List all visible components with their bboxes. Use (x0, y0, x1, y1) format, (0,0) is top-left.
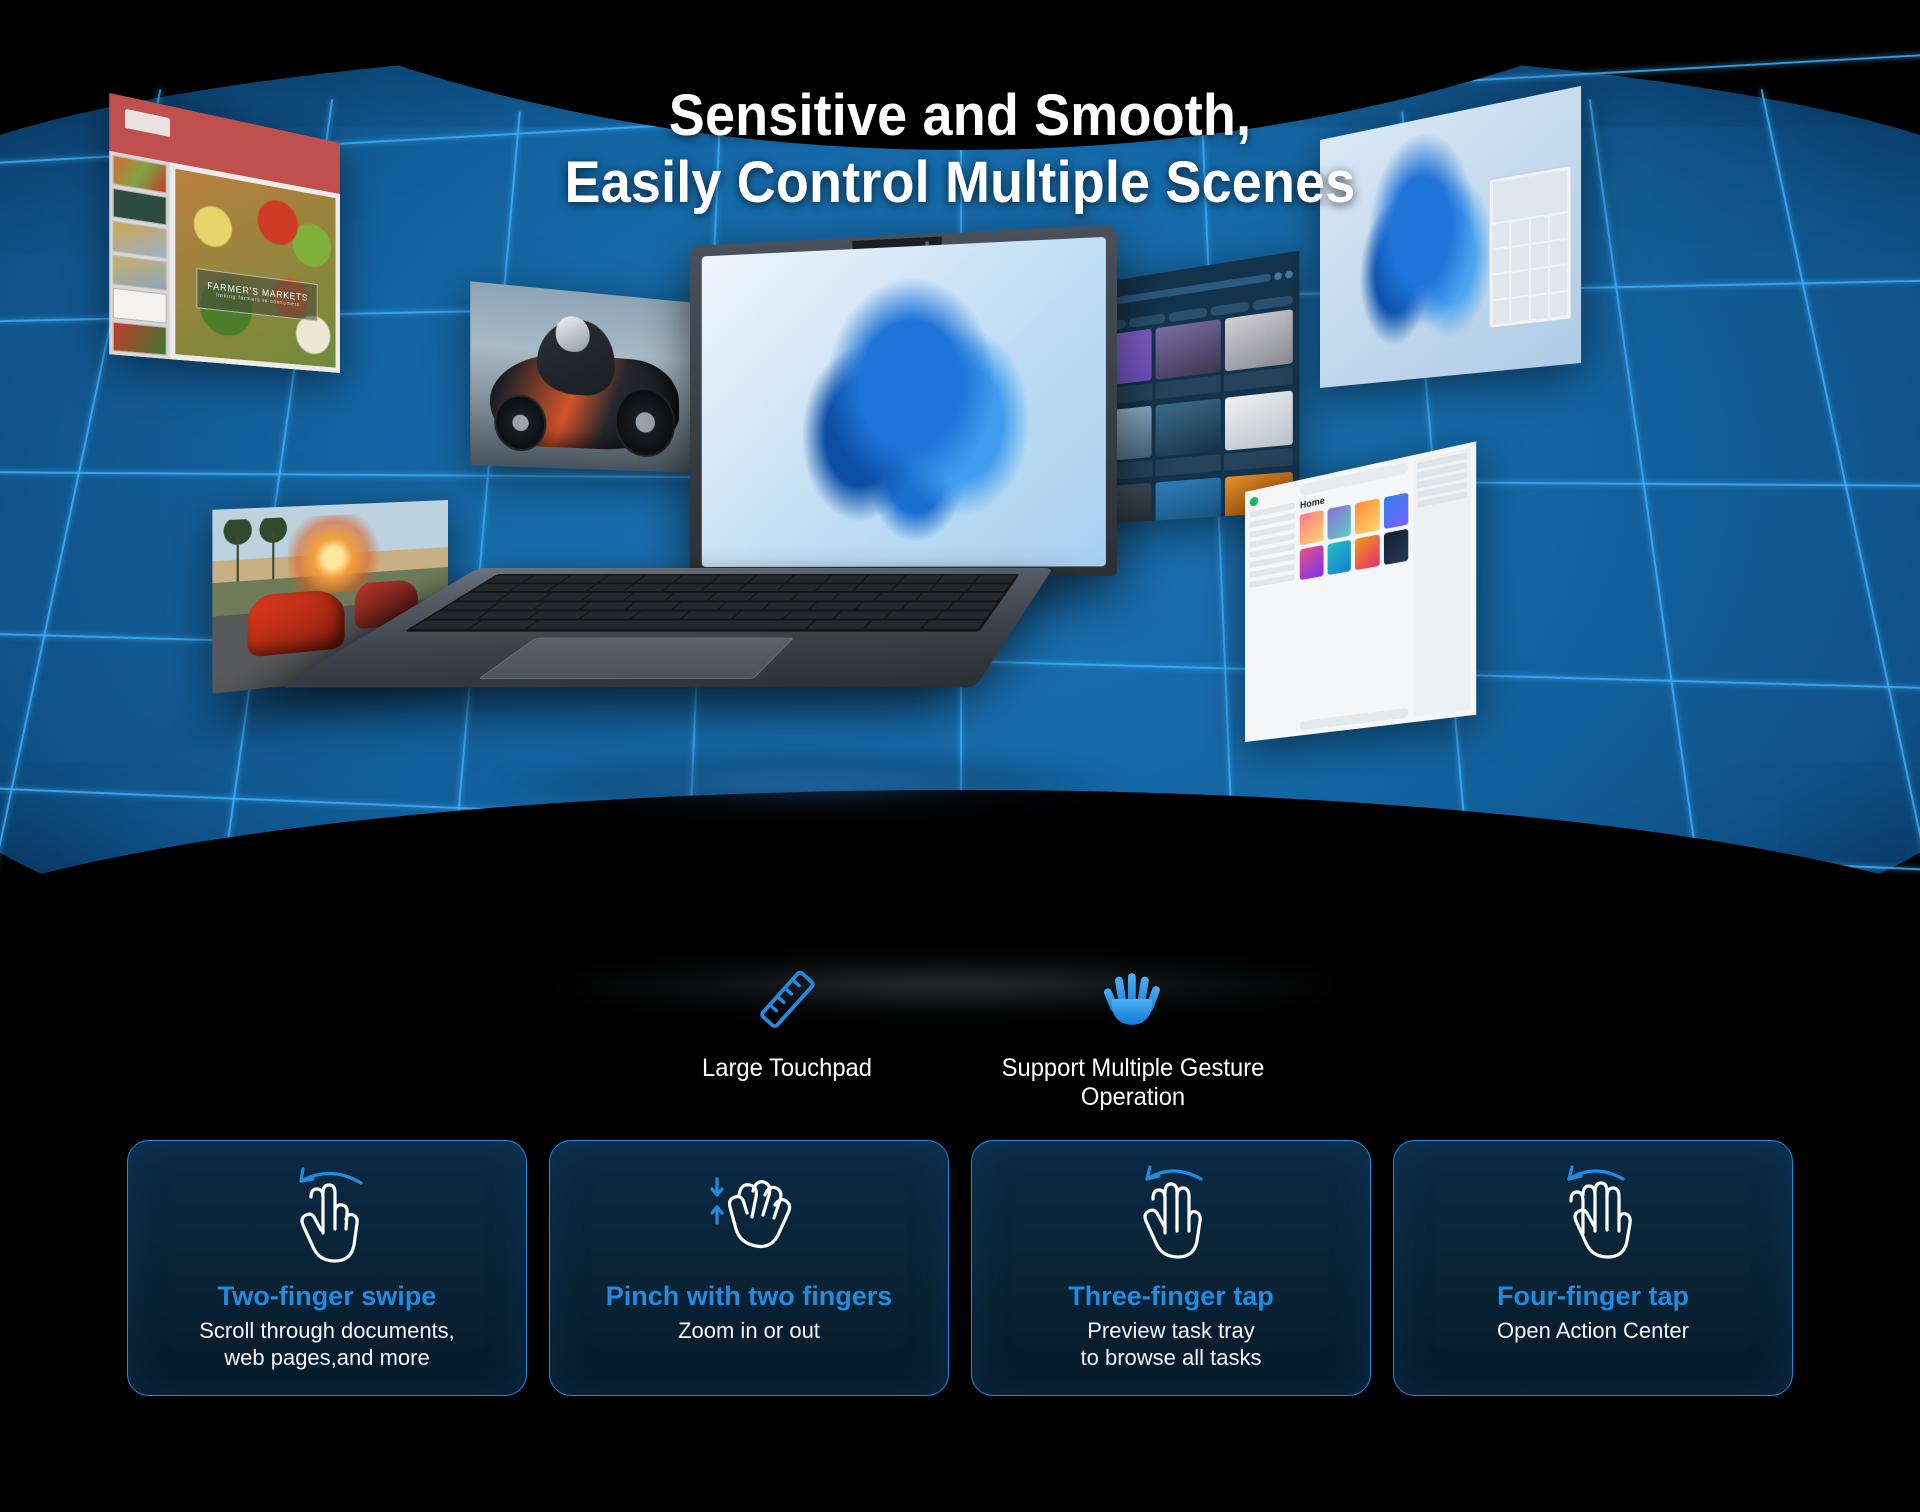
gesture-card-title: Three-finger tap (1068, 1281, 1274, 1312)
gesture-card-desc-line1: Open Action Center (1497, 1318, 1689, 1345)
dashboard-card (1300, 545, 1323, 580)
gesture-card-title: Four-finger tap (1497, 1281, 1689, 1312)
feature-large-touchpad: Large Touchpad (637, 960, 937, 1112)
music-home-dashboard: Home (1245, 441, 1476, 742)
poster-canvas: FARMER'S MARKETS linking farmers to cons… (0, 0, 1920, 1512)
laptop-device (478, 246, 1118, 766)
store-tab (1252, 295, 1292, 310)
page-title-line1: Sensitive and Smooth, (67, 82, 1853, 149)
gesture-card-two-finger-swipe[interactable]: Two-finger swipe Scroll through document… (127, 1140, 527, 1396)
ruler-icon (637, 960, 937, 1038)
store-tab (1210, 301, 1249, 316)
keyboard-row (442, 602, 998, 610)
store-card (1225, 390, 1293, 450)
slide-caption: FARMER'S MARKETS linking farmers to cons… (196, 268, 318, 322)
gesture-card-pinch-two-fingers[interactable]: Pinch with two fingers Zoom in or out (549, 1140, 949, 1396)
laptop-lid (690, 225, 1117, 576)
feature-gesture-support: Support Multiple Gesture Operation (983, 960, 1283, 1112)
keyboard-row (457, 593, 1004, 601)
store-card (1156, 319, 1221, 379)
dashboard-card (1355, 498, 1379, 534)
page-title-line2: Easily Control Multiple Scenes (67, 149, 1853, 216)
store-card (1156, 398, 1221, 456)
gesture-card-three-finger-tap[interactable]: Three-finger tap Preview task tray to br… (971, 1140, 1371, 1396)
laptop-keyboard (404, 574, 1020, 632)
feature-label: Support Multiple Gesture Operation (991, 1054, 1276, 1112)
store-tab (1169, 307, 1207, 322)
feature-row: Large Touchpad (0, 960, 1920, 1112)
gesture-card-title: Two-finger swipe (218, 1281, 437, 1312)
feature-label: Large Touchpad (645, 1054, 930, 1083)
keyboard-row (471, 584, 1010, 592)
dashboard-main: Home (1300, 461, 1409, 730)
dashboard-right-rail (1414, 448, 1471, 717)
gesture-card-desc: Preview task tray to browse all tasks (1081, 1318, 1262, 1372)
slide-thumbnail (113, 255, 167, 291)
palm-tree (223, 519, 253, 583)
three-finger-tap-icon (1109, 1157, 1233, 1277)
store-profile-icon (1285, 270, 1293, 279)
dashboard-card (1327, 540, 1351, 576)
gesture-card-desc-line2: to browse all tasks (1081, 1345, 1262, 1372)
logo-dot-icon (1250, 496, 1259, 507)
dashboard-card (1355, 534, 1379, 570)
gesture-card-desc: Zoom in or out (678, 1318, 820, 1345)
gesture-card-four-finger-tap[interactable]: Four-finger tap Open Action Center (1393, 1140, 1793, 1396)
slide-thumbnail (113, 221, 167, 258)
store-tab (1129, 313, 1166, 327)
gesture-card-title: Pinch with two fingers (606, 1281, 893, 1312)
two-finger-swipe-icon (265, 1157, 389, 1277)
pinch-two-fingers-icon (687, 1157, 811, 1277)
dashboard-card (1327, 504, 1351, 540)
gesture-card-row: Two-finger swipe Scroll through document… (0, 1140, 1920, 1396)
keyboard-row (426, 611, 990, 619)
palm-tree (258, 517, 288, 580)
gesture-card-desc-line1: Preview task tray (1081, 1318, 1262, 1345)
dashboard-sidebar (1250, 486, 1295, 736)
store-menu-icon (1274, 272, 1282, 281)
dashboard-card (1300, 510, 1323, 545)
gesture-card-desc-line1: Zoom in or out (678, 1318, 820, 1345)
gesture-card-desc: Scroll through documents, web pages,and … (199, 1318, 455, 1372)
laptop-screen (702, 237, 1106, 567)
keyboard-row (485, 576, 1015, 583)
laptop-touchpad[interactable] (478, 638, 794, 679)
gesture-card-desc-line2: web pages,and more (199, 1345, 455, 1372)
gesture-card-desc-line1: Scroll through documents, (199, 1318, 455, 1345)
player-car (248, 588, 345, 657)
dashboard-card (1384, 529, 1409, 565)
windows-11-bloom-wallpaper (756, 265, 1072, 542)
hand-gesture-icon (983, 960, 1283, 1038)
gesture-card-desc: Open Action Center (1497, 1318, 1689, 1345)
dashboard-card (1384, 492, 1409, 529)
four-finger-tap-icon (1531, 1157, 1655, 1277)
slide-thumbnail (113, 321, 167, 355)
page-title: Sensitive and Smooth, Easily Control Mul… (67, 82, 1853, 217)
slide-thumbnail (113, 288, 167, 323)
store-card (1225, 309, 1293, 371)
keyboard-row (410, 621, 984, 630)
